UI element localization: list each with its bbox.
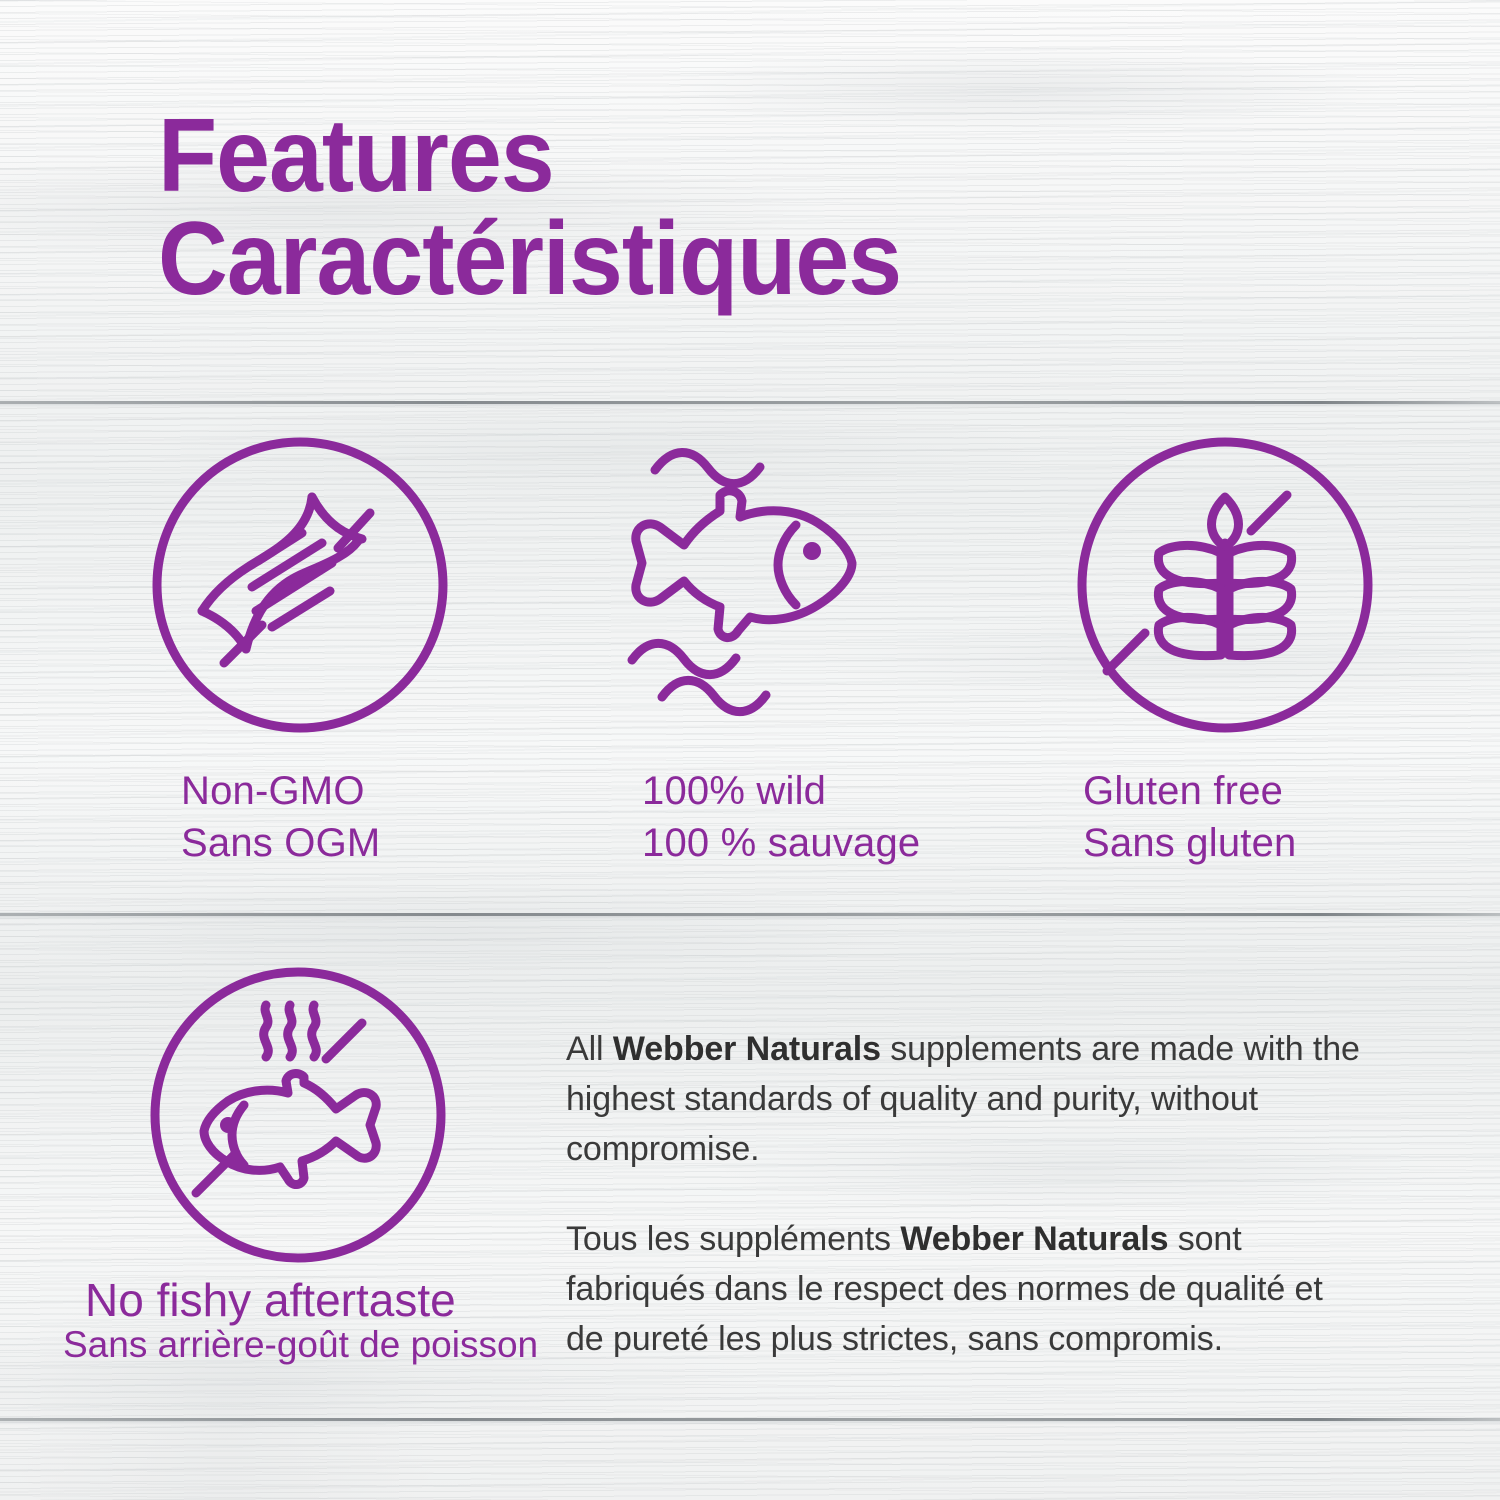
page-title: Features Caractéristiques [158,105,901,311]
label-en: Non-GMO [181,765,380,817]
feature-label-gluten: Gluten free Sans gluten [1083,765,1296,869]
feature-label-no-fishy-fr: Sans arrière-goût de poisson [63,1325,538,1366]
no-gluten-wheat-icon [1075,435,1375,740]
body-copy: All Webber Naturals supplements are made… [566,1025,1366,1365]
copy-fr-before: Tous les suppléments [566,1220,900,1258]
feature-label-no-fishy-en: No fishy aftertaste [85,1275,456,1326]
brand-name-en: Webber Naturals [613,1030,881,1068]
feature-label-wild: 100% wild 100 % sauvage [642,765,920,869]
no-gmo-dna-icon [150,435,450,740]
copy-en-before: All [566,1030,613,1068]
label-en: Gluten free [1083,765,1296,817]
label-fr: Sans OGM [181,817,380,869]
label-fr: Sans gluten [1083,817,1296,869]
feature-label-non-gmo: Non-GMO Sans OGM [181,765,380,869]
title-line-fr: Caractéristiques [158,208,901,311]
paragraph-english: All Webber Naturals supplements are made… [566,1025,1366,1175]
label-en: 100% wild [642,765,920,817]
title-line-en: Features [158,98,554,214]
label-fr: 100 % sauvage [642,817,920,869]
paragraph-french: Tous les suppléments Webber Naturals son… [566,1215,1366,1365]
brand-name-fr: Webber Naturals [900,1220,1168,1258]
fish-waves-icon [600,435,900,740]
no-fishy-smell-icon [148,965,448,1270]
